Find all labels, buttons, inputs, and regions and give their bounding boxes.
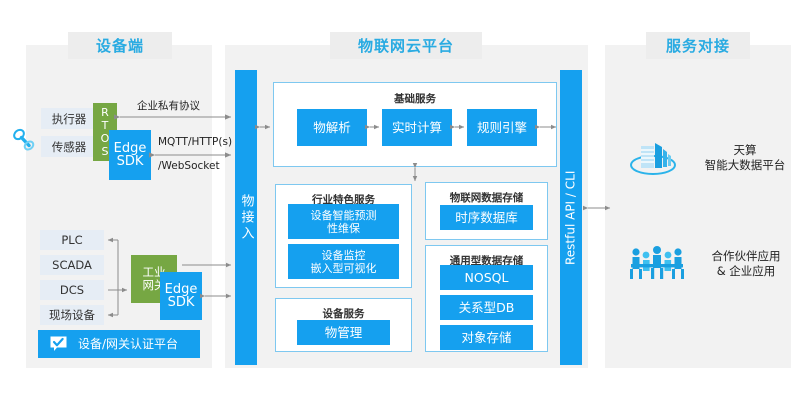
check-bubble-icon xyxy=(50,336,67,352)
protocol-label-mqtt: MQTT/HTTP(s) xyxy=(158,136,232,148)
field-device-onsite: 现场设备 xyxy=(40,305,104,325)
panel-title-service-side: 服务对接 xyxy=(646,32,750,59)
partners-title: 合作伙伴应用 xyxy=(690,249,802,264)
iot-storage-item-timeseries-db[interactable]: 时序数据库 xyxy=(440,205,533,230)
field-device-dcs: DCS xyxy=(40,280,104,300)
device-monitoring-line1: 设备监控 xyxy=(322,249,366,262)
device-auth-platform-bar[interactable]: 设备/网关认证平台 xyxy=(38,330,200,358)
predictive-maintenance-line2: 性维保 xyxy=(327,222,360,235)
iot-ingress-bar: 物接入 xyxy=(235,70,257,365)
diagram-canvas: 设备端 物联网云平台 服务对接 执行器 传感器 RTOS Edge SDK 企业… xyxy=(0,0,802,411)
general-storage-item-object-storage[interactable]: 对象存储 xyxy=(440,325,533,350)
edge-sdk-gateway-block: Edge SDK xyxy=(160,272,202,320)
field-device-plc: PLC xyxy=(40,230,104,250)
device-service-title: 设备服务 xyxy=(276,306,411,321)
general-storage-item-nosql[interactable]: NOSQL xyxy=(440,265,533,290)
device-service-item-thing-management[interactable]: 物管理 xyxy=(297,320,390,345)
panel-service-side xyxy=(605,45,791,368)
device-label-sensor: 传感器 xyxy=(41,136,97,157)
big-data-platform-icon xyxy=(628,138,678,180)
restful-api-cli-bar: Restful API / CLI xyxy=(560,70,582,365)
big-data-subtitle: 智能大数据平台 xyxy=(690,158,800,173)
base-service-item-realtime-compute[interactable]: 实时计算 xyxy=(382,109,452,146)
base-service-item-rule-engine[interactable]: 规则引擎 xyxy=(467,109,537,146)
service-entry-big-data-label: 天算 智能大数据平台 xyxy=(690,143,800,173)
big-data-title: 天算 xyxy=(690,143,800,158)
industry-service-item-device-monitoring[interactable]: 设备监控 嵌入型可视化 xyxy=(288,244,399,279)
device-monitoring-line2: 嵌入型可视化 xyxy=(311,262,377,275)
partners-subtitle: & 企业应用 xyxy=(690,264,802,279)
base-service-item-parsing[interactable]: 物解析 xyxy=(297,109,367,146)
partners-meeting-icon xyxy=(628,243,686,283)
edge-sdk-device-block: Edge SDK xyxy=(109,130,151,180)
device-label-actuator: 执行器 xyxy=(41,108,97,129)
predictive-maintenance-line1: 设备智能预测 xyxy=(311,209,377,222)
protocol-label-private: 企业私有协议 xyxy=(137,98,200,113)
service-entry-partners-label: 合作伙伴应用 & 企业应用 xyxy=(690,249,802,279)
industry-service-item-predictive-maintenance[interactable]: 设备智能预测 性维保 xyxy=(288,204,399,239)
panel-title-device-side: 设备端 xyxy=(68,32,172,59)
iot-storage-title: 物联网数据存储 xyxy=(426,190,547,205)
panel-title-cloud-platform: 物联网云平台 xyxy=(330,32,482,59)
protocol-label-websocket: /WebSocket xyxy=(158,160,220,172)
base-service-title: 基础服务 xyxy=(274,91,556,106)
device-auth-platform-label: 设备/网关认证平台 xyxy=(78,338,178,351)
sensor-tag-icon xyxy=(8,123,38,153)
edge-sdk-device-line2: SDK xyxy=(117,155,144,168)
general-storage-item-relational-db[interactable]: 关系型DB xyxy=(440,295,533,320)
edge-sdk-gateway-line2: SDK xyxy=(168,296,195,309)
field-device-scada: SCADA xyxy=(40,255,104,275)
